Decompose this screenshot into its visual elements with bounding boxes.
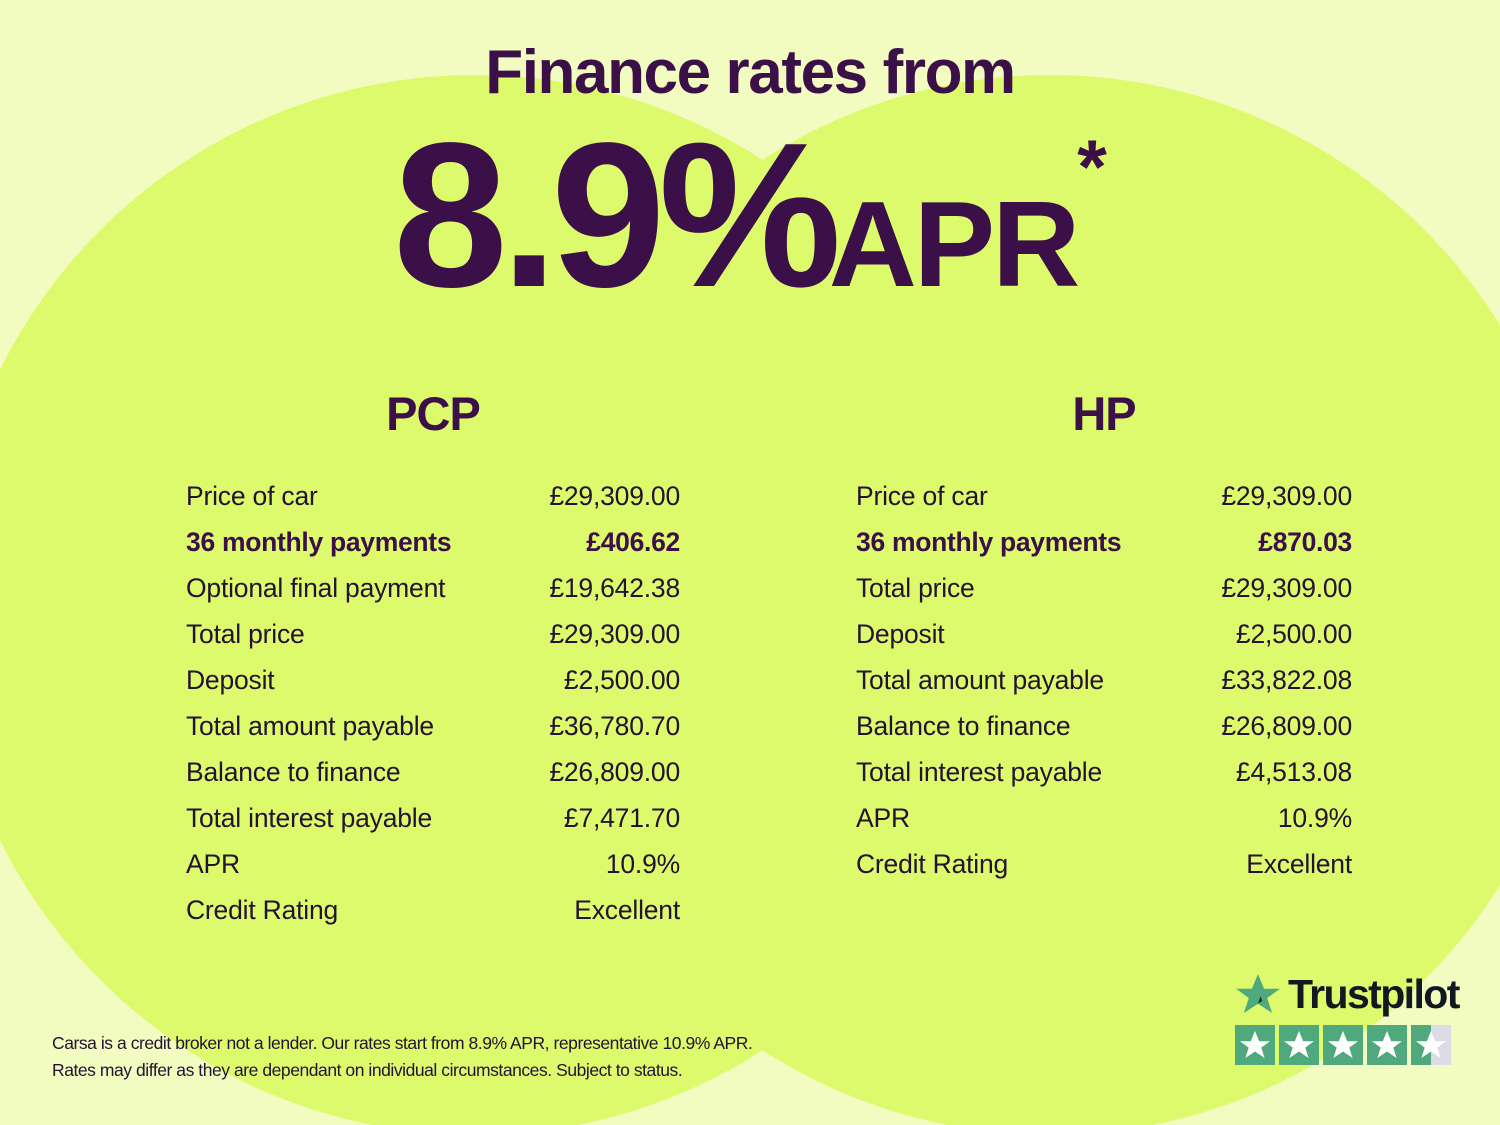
table-row: Deposit £2,500.00 [186,667,680,694]
row-value: 10.9% [606,851,680,878]
row-label: Total amount payable [186,713,434,740]
star-tile-3 [1323,1025,1363,1065]
row-value: £4,513.08 [1236,759,1352,786]
row-label: Balance to finance [186,759,400,786]
table-row: Total amount payable £36,780.70 [186,713,680,740]
footnote-disclaimer: Carsa is a credit broker not a lender. O… [52,1030,852,1083]
row-value: £29,309.00 [1221,483,1352,510]
row-value: £19,642.38 [549,575,680,602]
star-tile-2 [1279,1025,1319,1065]
row-label: APR [186,851,240,878]
table-title-pcp: PCP [186,390,680,437]
row-value: £26,809.00 [549,759,680,786]
row-value: Excellent [574,897,680,924]
star-tile-1 [1235,1025,1275,1065]
table-row: 36 monthly payments £406.62 [186,529,680,556]
row-label: Total price [186,621,305,648]
headline-subtitle: Finance rates from [0,42,1500,104]
table-row: Total interest payable £4,513.08 [856,759,1352,786]
table-row: Total amount payable £33,822.08 [856,667,1352,694]
row-value: Excellent [1246,851,1352,878]
headline-rate-value: 8.9% [393,100,835,330]
row-label: Optional final payment [186,575,445,602]
row-value: £36,780.70 [549,713,680,740]
row-label: Total amount payable [856,667,1104,694]
finance-table-pcp: PCP Price of car £29,309.00 36 monthly p… [186,390,680,943]
table-row: Credit Rating Excellent [856,851,1352,878]
row-value: £7,471.70 [564,805,680,832]
table-row: Price of car £29,309.00 [186,483,680,510]
table-row: APR 10.9% [186,851,680,878]
trustpilot-logo: Trustpilot [1235,972,1459,1016]
headline-block: Finance rates from 8.9%APR* [0,0,1500,318]
row-value: £29,309.00 [549,483,680,510]
trustpilot-star-row [1235,1025,1459,1065]
table-row: Balance to finance £26,809.00 [856,713,1352,740]
row-value: 10.9% [1278,805,1352,832]
row-label: 36 monthly payments [186,529,451,556]
table-row: Total price £29,309.00 [186,621,680,648]
trustpilot-rating-widget[interactable]: Trustpilot [1235,972,1459,1065]
row-label: Total interest payable [186,805,432,832]
table-row: Optional final payment £19,642.38 [186,575,680,602]
row-label: Deposit [856,621,944,648]
row-label: Credit Rating [856,851,1008,878]
row-value: £26,809.00 [1221,713,1352,740]
table-row: Total interest payable £7,471.70 [186,805,680,832]
headline-rate-row: 8.9%APR* [0,112,1500,318]
row-value: £29,309.00 [549,621,680,648]
star-tile-4 [1367,1025,1407,1065]
table-title-hp: HP [856,390,1352,437]
table-row: 36 monthly payments £870.03 [856,529,1352,556]
footnote-line-2: Rates may differ as they are dependant o… [52,1057,852,1084]
table-row: APR 10.9% [856,805,1352,832]
headline-asterisk: * [1077,125,1107,210]
row-label: 36 monthly payments [856,529,1121,556]
headline-apr-label: APR [829,176,1078,312]
row-value: £33,822.08 [1221,667,1352,694]
finance-table-hp: HP Price of car £29,309.00 36 monthly pa… [856,390,1352,897]
footnote-line-1: Carsa is a credit broker not a lender. O… [52,1030,852,1057]
table-row: Total price £29,309.00 [856,575,1352,602]
table-row: Price of car £29,309.00 [856,483,1352,510]
trustpilot-wordmark-text: Trustpilot [1288,974,1459,1015]
table-row: Deposit £2,500.00 [856,621,1352,648]
row-value: £29,309.00 [1221,575,1352,602]
row-value: £870.03 [1258,529,1352,556]
row-label: Price of car [856,483,988,510]
table-row: Credit Rating Excellent [186,897,680,924]
row-label: Total interest payable [856,759,1102,786]
table-row: Balance to finance £26,809.00 [186,759,680,786]
row-label: Total price [856,575,975,602]
finance-rates-graphic: Finance rates from 8.9%APR* PCP Price of… [0,0,1500,1125]
row-label: Credit Rating [186,897,338,924]
star-icon [1235,972,1281,1016]
star-tile-5-half [1411,1025,1451,1065]
row-value: £2,500.00 [564,667,680,694]
row-value: £2,500.00 [1236,621,1352,648]
row-label: Deposit [186,667,274,694]
row-label: Balance to finance [856,713,1070,740]
row-label: Price of car [186,483,318,510]
row-label: APR [856,805,910,832]
row-value: £406.62 [586,529,680,556]
